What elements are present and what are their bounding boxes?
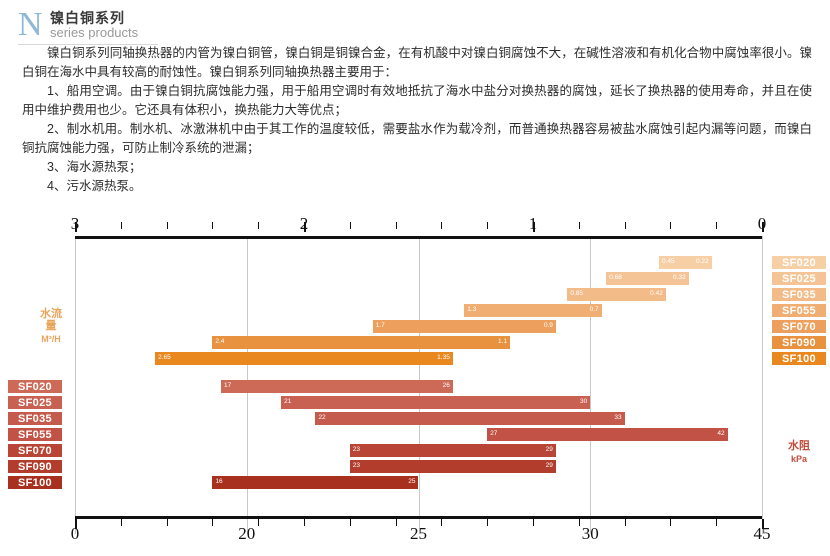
legend-chip-sf035[interactable]: SF035 — [772, 288, 826, 301]
flow-axis-title-text: 水流量 — [40, 308, 62, 332]
legend-chip-sf025[interactable]: SF025 — [8, 396, 62, 409]
legend-chip-sf055[interactable]: SF055 — [772, 304, 826, 317]
description-text: 镍白铜系列同轴换热器的内管为镍白铜管，镍白铜是铜镍合金，在有机酸中对镍白铜腐蚀不… — [22, 44, 812, 196]
bar-value-end: 26 — [443, 383, 450, 390]
bar-value-start: 23 — [353, 463, 360, 470]
bar-value-start: 21 — [284, 399, 291, 406]
performance-chart: 3210 020253045 0.450.220.680.320.850.421… — [0, 218, 830, 556]
bar-sf020: 1726 — [221, 380, 453, 393]
flow-axis-unit: M³/H — [36, 333, 66, 345]
resistance-axis-unit: kPa — [784, 453, 814, 465]
brand-header: N 镍白铜系列 series products — [18, 6, 158, 46]
bar-value-start: 16 — [215, 479, 222, 486]
bar-sf035: 2233 — [315, 412, 624, 425]
bar-sf025: 2130 — [281, 396, 590, 409]
legend-chip-sf090[interactable]: SF090 — [8, 460, 62, 473]
bar-value-end: 42 — [717, 431, 724, 438]
legend-chip-sf055[interactable]: SF055 — [8, 428, 62, 441]
bar-sf100: 1625 — [212, 476, 418, 489]
bar-sf090: 2329 — [350, 460, 556, 473]
gridline — [762, 236, 763, 534]
legend-chip-sf025[interactable]: SF025 — [772, 272, 826, 285]
legend-chip-sf070[interactable]: SF070 — [8, 444, 62, 457]
paragraph-item-4: 4、污水源热泵。 — [22, 177, 812, 196]
bar-sf070: 2329 — [350, 444, 556, 457]
legend-chip-sf035[interactable]: SF035 — [8, 412, 62, 425]
bar-value-end: 29 — [546, 447, 553, 454]
paragraph-intro: 镍白铜系列同轴换热器的内管为镍白铜管，镍白铜是铜镍合金，在有机酸中对镍白铜腐蚀不… — [22, 44, 812, 82]
legend-chip-sf090[interactable]: SF090 — [772, 336, 826, 349]
flow-axis-title: 水流量 M³/H — [36, 308, 66, 345]
product-title-en: series products — [50, 25, 138, 40]
resistance-axis-title: 水阻 kPa — [784, 440, 814, 465]
legend-chip-sf100[interactable]: SF100 — [772, 352, 826, 365]
bar-value-end: 30 — [580, 399, 587, 406]
bar-value-start: 23 — [353, 447, 360, 454]
legend-chip-sf020[interactable]: SF020 — [772, 256, 826, 269]
bar-value-start: 17 — [224, 383, 231, 390]
bar-value-start: 27 — [490, 431, 497, 438]
legend-chip-sf020[interactable]: SF020 — [8, 380, 62, 393]
bar-value-start: 22 — [318, 415, 325, 422]
legend-chip-sf070[interactable]: SF070 — [772, 320, 826, 333]
water-resistance-bars: 1726213022332742232923291625 — [75, 218, 762, 556]
bar-value-end: 25 — [408, 479, 415, 486]
paragraph-item-1: 1、船用空调。由于镍白铜抗腐蚀能力强，用于船用空调时有效地抵抗了海水中盐分对换热… — [22, 82, 812, 120]
logo-n-icon: N — [18, 8, 43, 42]
legend-chip-sf100[interactable]: SF100 — [8, 476, 62, 489]
bar-value-end: 29 — [546, 463, 553, 470]
bar-value-end: 33 — [614, 415, 621, 422]
paragraph-item-2: 2、制水机用。制水机、冰激淋机中由于其工作的温度较低，需要盐水作为载冷剂，而普通… — [22, 120, 812, 158]
resistance-axis-title-text: 水阻 — [788, 440, 810, 452]
paragraph-item-3: 3、海水源热泵； — [22, 158, 812, 177]
bar-sf055: 2742 — [487, 428, 727, 441]
